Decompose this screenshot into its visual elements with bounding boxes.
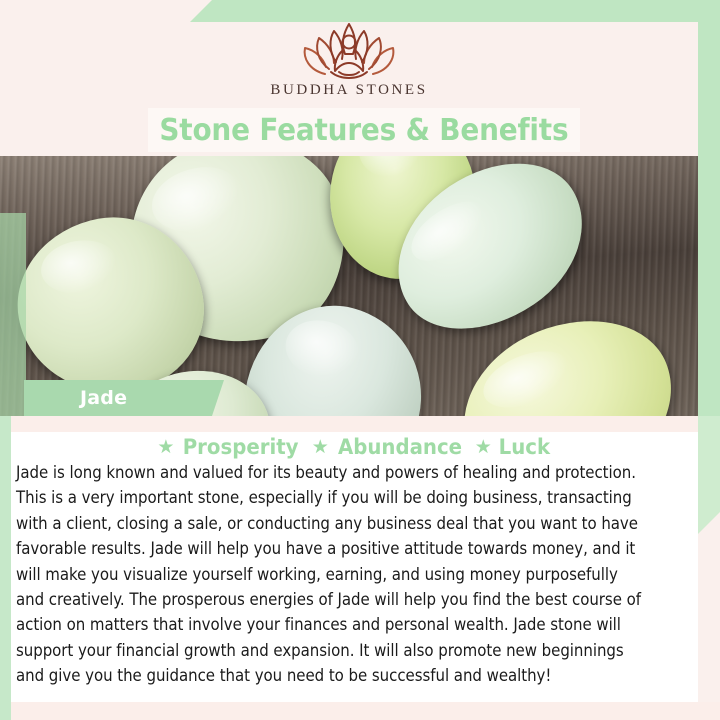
star-icon: ★ [475,438,492,457]
benefit-item-prosperity: ★ Prosperity [157,435,302,459]
description-text: Jade is long known and valued for its be… [16,460,647,689]
star-icon: ★ [157,438,174,457]
benefit-label: Luck [498,435,549,459]
page-title: Stone Features & Benefits [160,113,569,148]
benefit-item-luck: ★ Luck [475,435,552,459]
lower-pink-divider [0,416,720,432]
lower-left-green-strip [0,416,11,720]
brand-name: BUDDHA STONES [0,82,698,99]
photo-right-green-strip [698,156,720,416]
benefits-row: ★ Prosperity ★ Abundance ★ Luck [11,432,698,462]
bottom-pink-strip [11,702,720,720]
photo-left-green-tab [0,213,26,416]
lower-right-green-strip [698,416,720,534]
benefit-label: Abundance [338,435,462,459]
header-right-green-strip [698,0,720,160]
stone-photo [0,156,698,416]
stone-benefits-infographic: BUDDHA STONES Stone Features & Benefits … [0,0,720,720]
benefit-label: Prosperity [183,435,299,459]
benefit-item-abundance: ★ Abundance [312,435,466,459]
title-bar: Stone Features & Benefits [148,108,580,152]
stone-name-label: Jade [80,387,127,409]
brand-logo: BUDDHA STONES [0,14,698,99]
star-icon: ★ [312,438,329,457]
lotus-meditation-icon [293,14,405,80]
stone-name-band: Jade [24,380,224,416]
